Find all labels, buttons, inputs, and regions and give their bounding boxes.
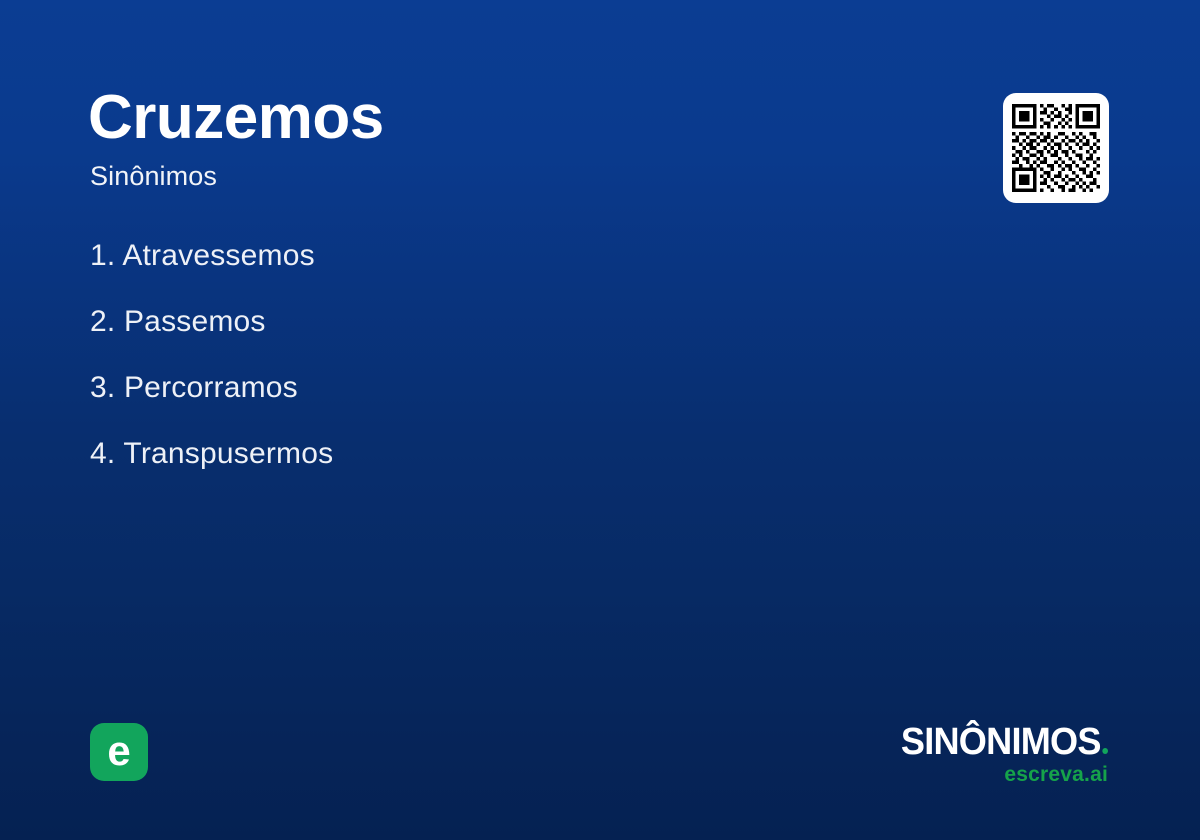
brand-name-text: SINÔNIMOS bbox=[901, 721, 1101, 763]
list-item-term: Passemos bbox=[124, 305, 266, 338]
synonym-list: 1. Atravessemos 2. Passemos 3. Percorram… bbox=[90, 238, 910, 472]
list-item: 1. Atravessemos bbox=[90, 238, 910, 274]
brand-tagline: escreva.ai bbox=[890, 763, 1108, 787]
page-title: Cruzemos bbox=[88, 86, 928, 150]
headline-block: Cruzemos Sinônimos bbox=[88, 86, 928, 193]
category-label: Sinônimos bbox=[90, 160, 928, 192]
list-item: 2. Passemos bbox=[90, 304, 910, 340]
qr-code-icon[interactable] bbox=[1003, 93, 1109, 203]
escreva-e-logo-icon[interactable]: e bbox=[90, 723, 148, 781]
brand-name: SINÔNIMOS bbox=[901, 722, 1108, 762]
list-item-index: 1. bbox=[90, 239, 115, 272]
list-item-index: 3. bbox=[90, 371, 115, 404]
brand-dot-icon bbox=[1102, 748, 1108, 754]
list-item-term: Atravessemos bbox=[122, 239, 314, 272]
brand-lockup[interactable]: SINÔNIMOS escreva.ai bbox=[890, 722, 1108, 787]
synonym-card: Cruzemos Sinônimos 1. Atravessemos 2. Pa… bbox=[0, 0, 1200, 840]
app-mark-letter: e bbox=[90, 723, 148, 781]
list-item-term: Transpusermos bbox=[123, 437, 333, 470]
list-item-index: 4. bbox=[90, 437, 115, 470]
list-item: 3. Percorramos bbox=[90, 370, 910, 406]
list-item: 4. Transpusermos bbox=[90, 436, 910, 472]
list-item-term: Percorramos bbox=[124, 371, 298, 404]
list-item-index: 2. bbox=[90, 305, 115, 338]
